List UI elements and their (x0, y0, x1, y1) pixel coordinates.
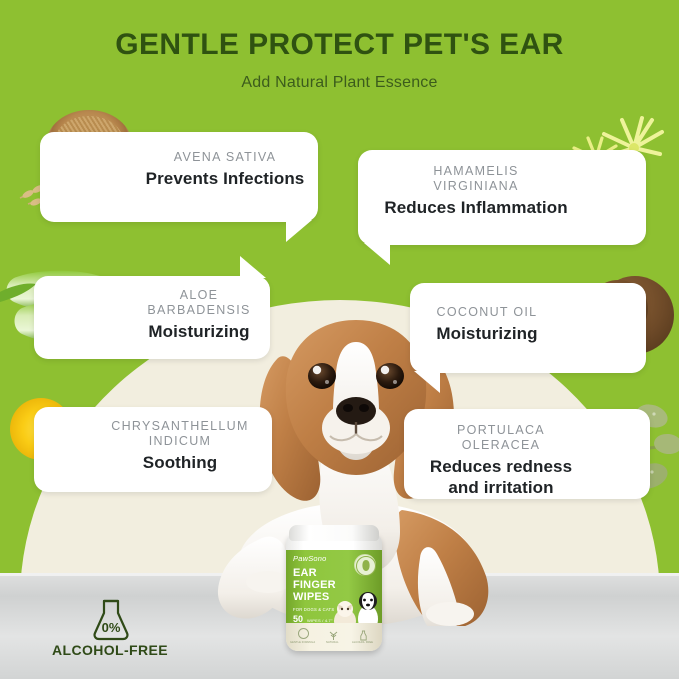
plant-leaf-icon (328, 628, 339, 639)
ingredient-benefit-line2: and irritation (416, 477, 586, 498)
can-footer-band: GENTLE FORMULA NATURAL ALCOHOL FREE (286, 623, 382, 651)
foot-caption-2: NATURAL (326, 641, 339, 644)
foot-caption-3: ALCOHOL FREE (352, 641, 373, 644)
ingredient-name: AVENA SATIVA (140, 150, 310, 165)
can-label: PawSono EAR FINGER WIPES FOR DOGS & CATS… (286, 550, 382, 633)
alcohol-free-label: ALCOHOL-FREE (48, 642, 172, 658)
product-name-line1: EAR (293, 568, 317, 580)
product-name-line2: FINGER (293, 580, 336, 592)
ingredient-name-line2: INDICUM (96, 434, 264, 449)
ingredient-benefit: Reduces Inflammation (376, 197, 576, 218)
bubble-tail (286, 220, 312, 242)
ingredient-benefit: Soothing (96, 452, 264, 473)
ingredient-card-hamamelis-virginiana[interactable]: HAMAMELIS VIRGINIANA Reduces Inflammatio… (358, 150, 646, 245)
ingredient-card-coconut-oil[interactable]: COCONUT OIL Moisturizing (410, 283, 646, 373)
can-lid[interactable] (289, 525, 379, 541)
brand-name: PawSono (293, 554, 327, 563)
pet-seal-badge-icon (354, 554, 376, 576)
ingredient-benefit: Moisturizing (138, 321, 260, 342)
product-for-pets: FOR DOGS & CATS (293, 607, 334, 612)
ingredient-name-line2: BARBADENSIS (138, 303, 260, 318)
ingredient-card-portulaca-oleracea[interactable]: PORTULACA OLERACEA Reduces redness and i… (404, 409, 650, 499)
ingredient-card-avena-sativa[interactable]: AVENA SATIVA Prevents Infections (40, 132, 318, 222)
ingredient-name: HAMAMELIS (376, 164, 576, 179)
ingredient-benefit: Prevents Infections (140, 168, 310, 189)
infographic-canvas: GENTLE PROTECT PET'S EAR Add Natural Pla… (0, 0, 679, 679)
alcohol-percent: 0% (90, 620, 132, 635)
smile-face-icon (298, 628, 309, 639)
page-subtitle: Add Natural Plant Essence (0, 74, 679, 92)
product-name-line3: WIPES (293, 592, 329, 604)
foot-caption-1: GENTLE FORMULA (290, 641, 315, 644)
ingredient-card-chrysanthellum-indicum[interactable]: CHRYSANTHELLUM INDICUM Soothing (34, 407, 272, 492)
alcohol-free-badge: 0% ALCOHOL-FREE (48, 598, 172, 668)
ingredient-name: CHRYSANTHELLUM (96, 419, 264, 434)
ingredient-name: ALOE (138, 288, 260, 303)
bubble-tail (240, 256, 266, 278)
product-container[interactable]: PawSono EAR FINGER WIPES FOR DOGS & CATS… (286, 525, 382, 653)
ingredient-name: COCONUT OIL (424, 305, 550, 320)
ingredient-name: PORTULACA OLERACEA (416, 423, 586, 453)
can-body: PawSono EAR FINGER WIPES FOR DOGS & CATS… (286, 533, 382, 651)
bubble-tail (414, 371, 440, 393)
bottle-icon (358, 628, 369, 639)
ingredient-card-aloe-barbadensis[interactable]: ALOE BARBADENSIS Moisturizing (34, 276, 270, 359)
page-title: GENTLE PROTECT PET'S EAR (0, 28, 679, 62)
ingredient-name-line2: VIRGINIANA (376, 179, 576, 194)
bubble-tail (364, 243, 390, 265)
ingredient-benefit: Moisturizing (424, 323, 550, 344)
ingredient-benefit: Reduces redness (416, 456, 586, 477)
